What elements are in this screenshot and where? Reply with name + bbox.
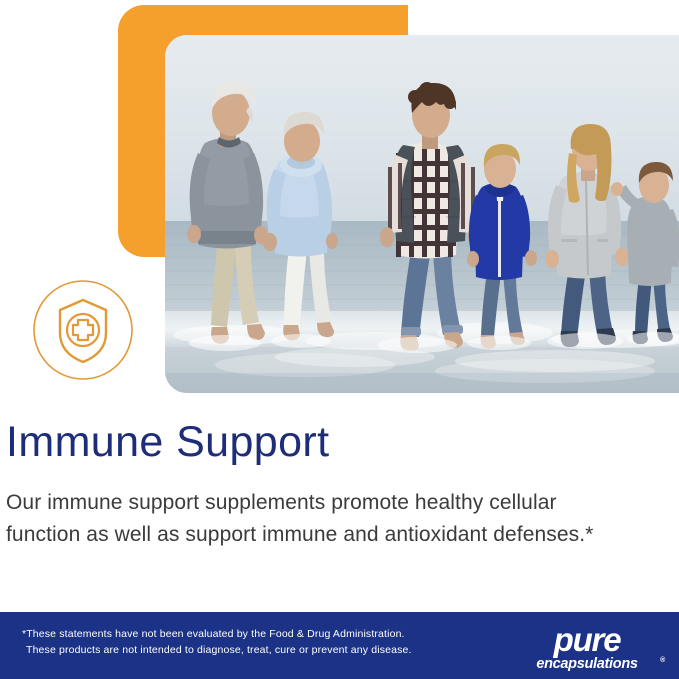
immune-shield-icon xyxy=(31,278,135,382)
shield-with-medical-cross-icon xyxy=(31,278,135,382)
disclaimer-line-2: These products are not intended to diagn… xyxy=(22,642,452,658)
registered-trademark-mark: ® xyxy=(660,657,665,665)
family-walking-beach-photo xyxy=(165,35,679,393)
page-title: Immune Support xyxy=(6,418,329,467)
beach-scene-illustration xyxy=(165,35,679,393)
fda-disclaimer: *These statements have not been evaluate… xyxy=(22,626,452,659)
brand-name-secondary-text: encapsulations xyxy=(536,656,637,672)
category-description: Our immune support supplements promote h… xyxy=(6,487,636,551)
brand-name-secondary: encapsulations® xyxy=(517,657,657,673)
brand-name-primary: pure xyxy=(517,623,657,656)
product-category-banner: Immune Support Our immune support supple… xyxy=(0,0,679,679)
disclaimer-line-1: *These statements have not been evaluate… xyxy=(22,628,405,640)
pure-encapsulations-logo: pure encapsulations® xyxy=(517,623,657,673)
footer-bar: *These statements have not been evaluate… xyxy=(0,612,679,679)
